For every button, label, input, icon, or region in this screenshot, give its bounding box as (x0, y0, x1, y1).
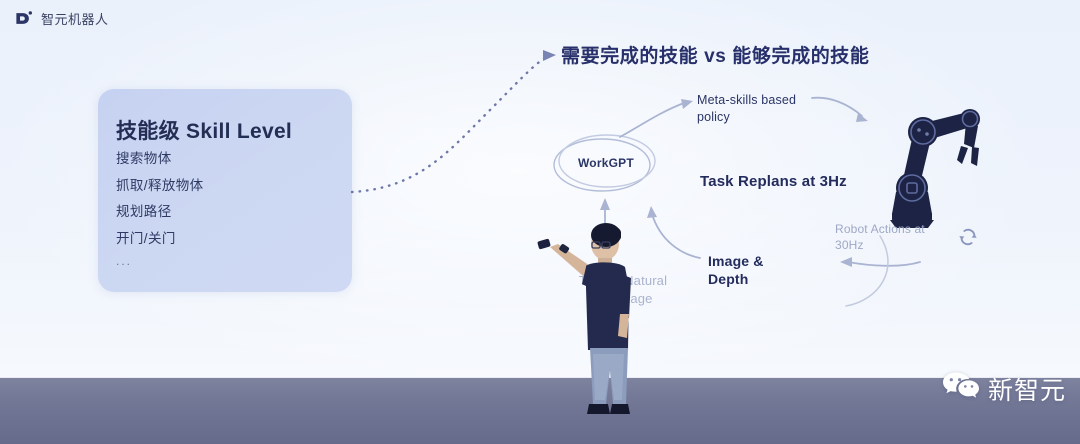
brand-name: 智元机器人 (41, 9, 109, 28)
arrow-to-meta-skills (620, 99, 693, 137)
list-item: 开门/关门 (116, 231, 204, 247)
label-workgpt-node: WorkGPT (578, 155, 634, 171)
skill-list: 搜索物体 抓取/释放物体 规划路径 开门/关门 ... (116, 151, 204, 280)
presenter-remote-icon (537, 239, 551, 250)
label-task-replans: Task Replans at 3Hz (700, 172, 847, 192)
panel-title: 技能级 Skill Level (116, 115, 292, 145)
label-robot-actions: Robot Actions at30Hz (835, 221, 925, 253)
aiyuan-logo-icon (14, 9, 33, 28)
stage-background: 智元机器人 技能级 Skill Level 搜索物体 抓取/释放物体 规划路径 … (0, 0, 1080, 444)
list-item-ellipsis: ... (116, 255, 204, 269)
presenter-figure-icon (536, 214, 656, 430)
watermark-text: 新智元 (988, 371, 1066, 407)
label-meta-skills-policy: Meta-skills basedpolicy (697, 92, 796, 126)
list-item: 规划路径 (116, 204, 204, 220)
arrow-to-robot (812, 98, 868, 122)
slide-headline: 需要完成的技能 vs 能够完成的技能 (561, 41, 870, 68)
channel-watermark: 新智元 (941, 370, 1066, 407)
list-item: 搜索物体 (116, 151, 204, 167)
wechat-icon (941, 370, 981, 407)
dotted-curve-arrow-icon (352, 50, 556, 192)
label-image-depth: Image &Depth (708, 252, 764, 288)
robot-arm-icon (862, 100, 992, 235)
list-item: 抓取/释放物体 (116, 178, 204, 194)
refresh-loop-icon (957, 226, 979, 248)
arrow-to-image-depth (840, 257, 920, 267)
skill-level-panel: 技能级 Skill Level 搜索物体 抓取/释放物体 规划路径 开门/关门 … (98, 89, 352, 292)
brand-logo: 智元机器人 (14, 9, 109, 28)
